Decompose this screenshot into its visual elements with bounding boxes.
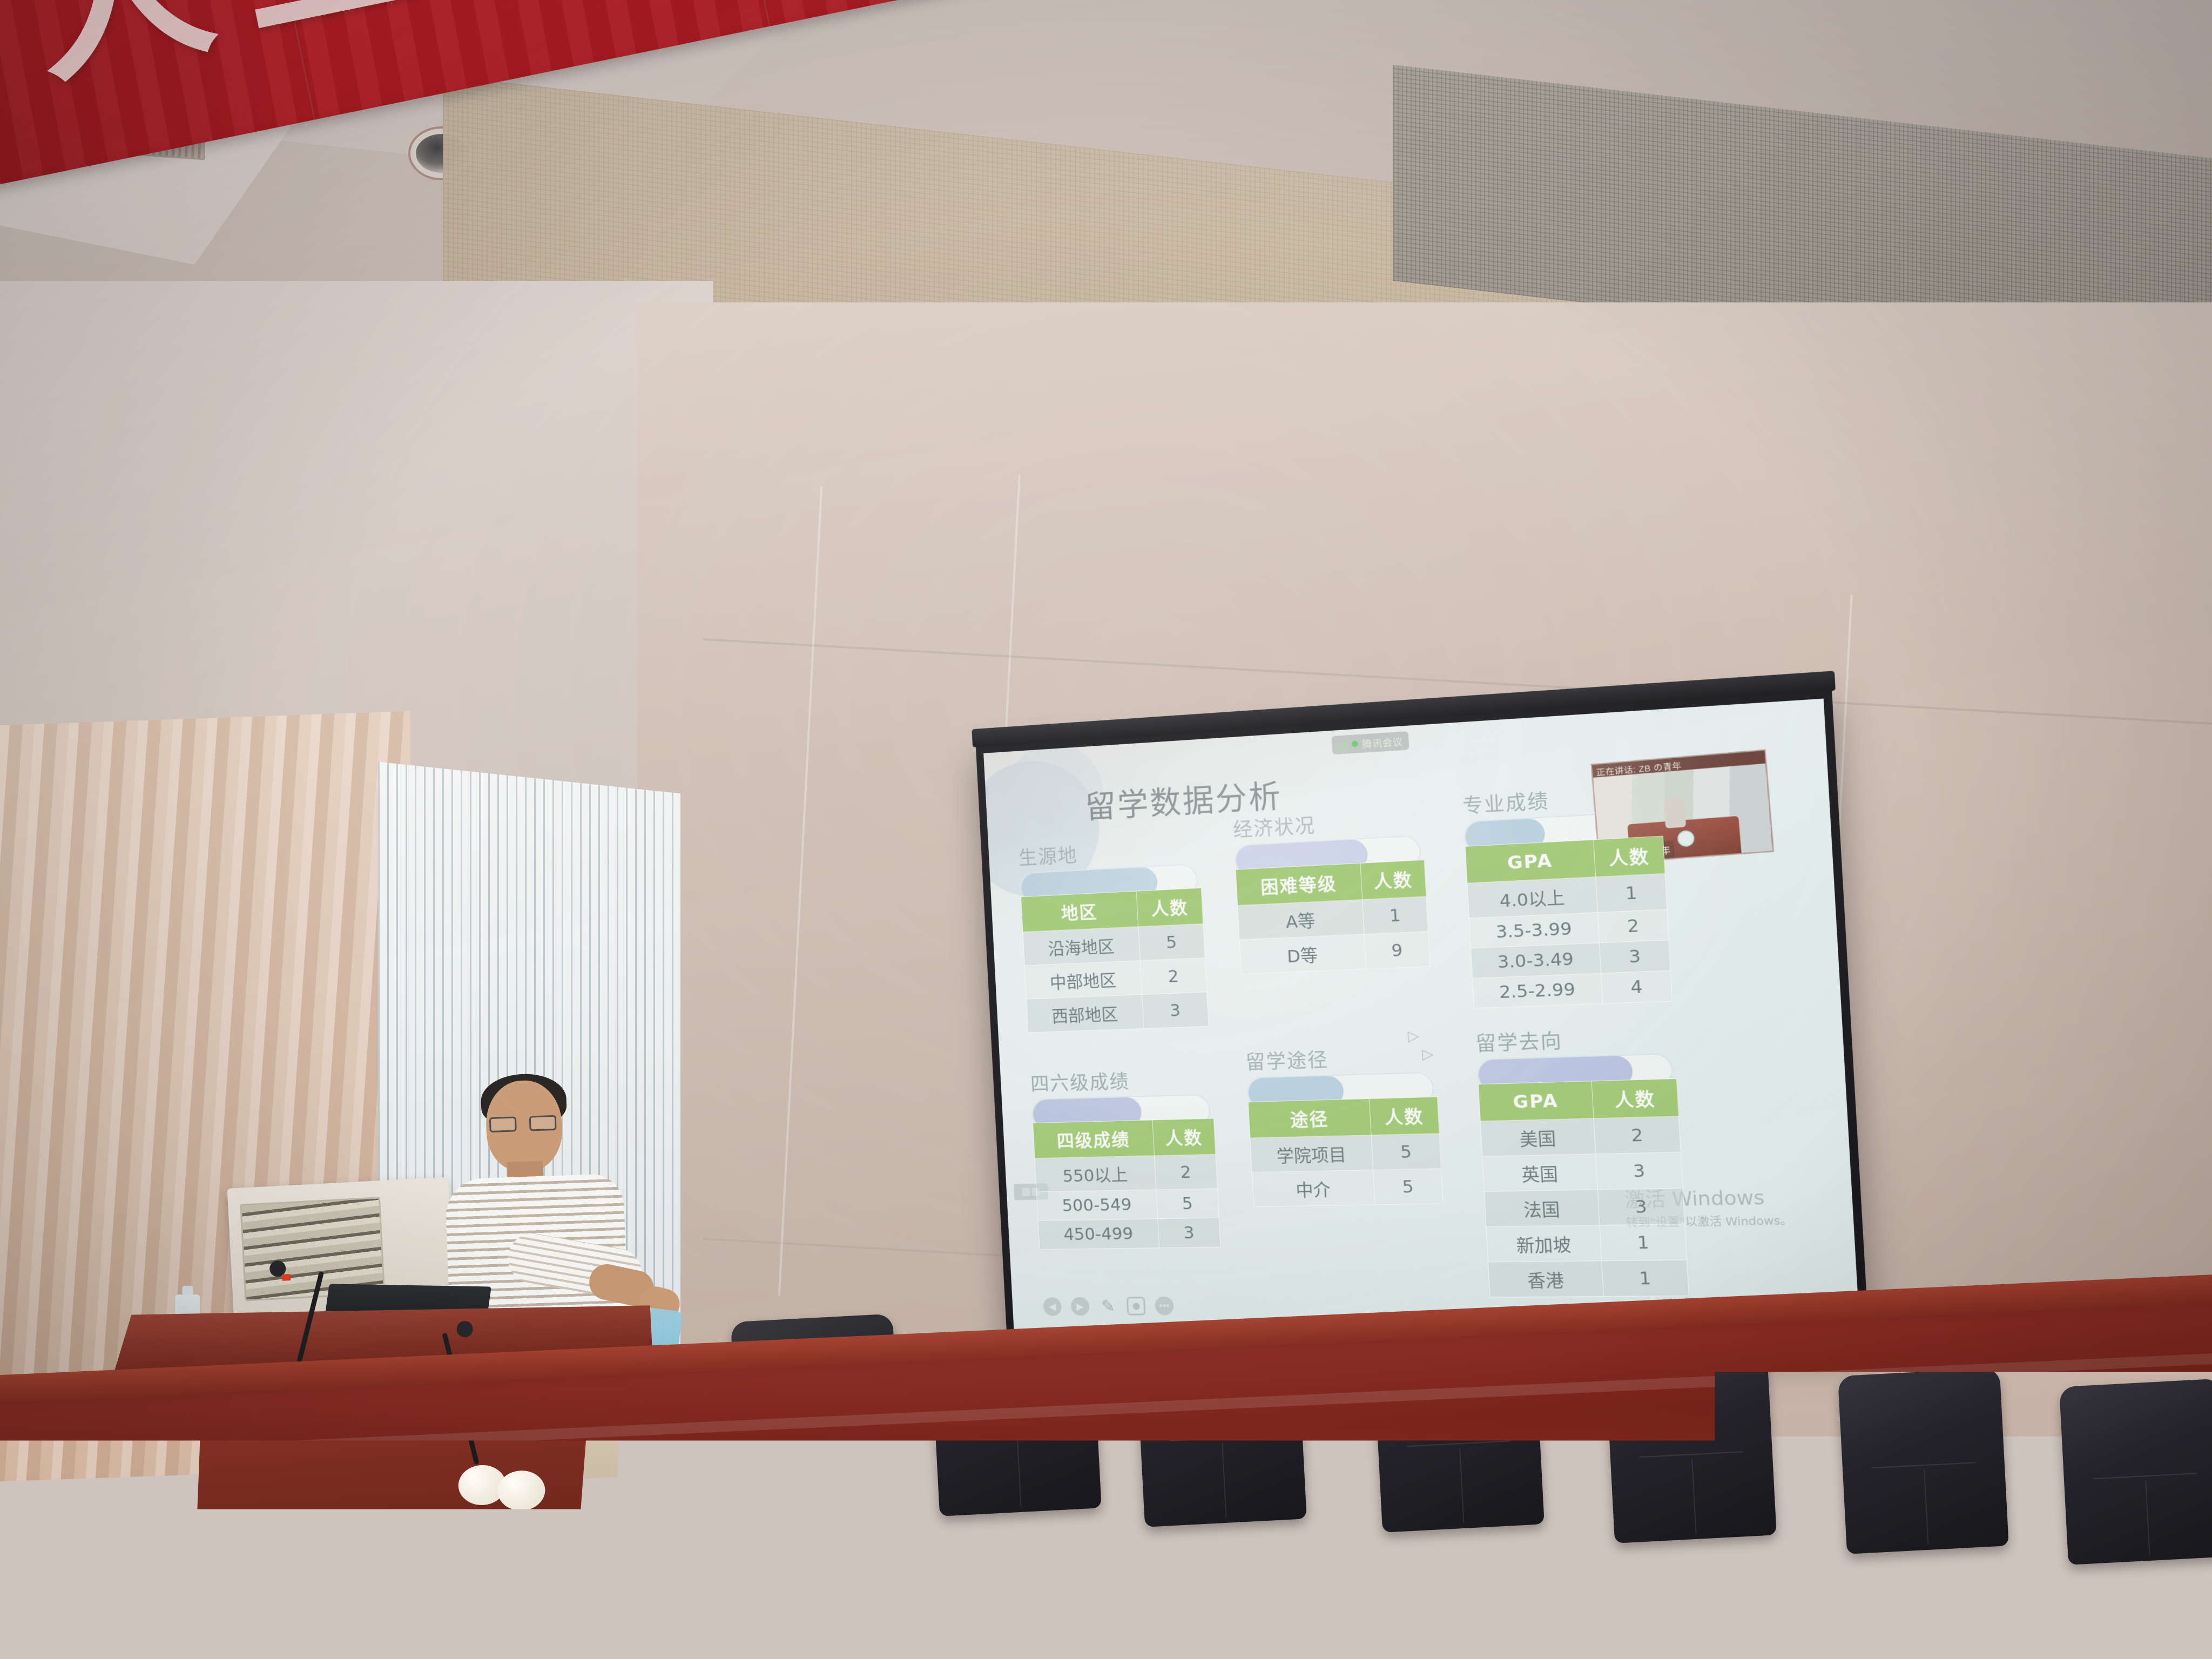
presentation-slide: 腾讯会议 留学数据分析 生源地 地区 人数 沿海地区5 中部地区2 bbox=[983, 699, 1860, 1336]
column-header: 人数 bbox=[1594, 836, 1665, 877]
column-header: GPA bbox=[1465, 840, 1596, 884]
column-header: 途径 bbox=[1248, 1098, 1371, 1138]
emblem-inner-ring: 南京农业大学 1902 NANJING AGRICULTURAL UNIVERS… bbox=[193, 1466, 304, 1576]
microphone-status-light bbox=[282, 1274, 291, 1281]
stat-table: 途径 人数 学院项目5 中介5 bbox=[1248, 1096, 1444, 1207]
table-row: 550以上2 bbox=[1035, 1154, 1217, 1192]
stage-wood-panel bbox=[1102, 1491, 1465, 1653]
mouse-cursor-icon: ▷ bbox=[1421, 1045, 1434, 1063]
next-slide-icon[interactable]: ▶ bbox=[1070, 1297, 1089, 1316]
column-header: 人数 bbox=[1360, 860, 1426, 899]
eyeglasses-icon bbox=[489, 1115, 557, 1134]
stat-block-label: 四六级成绩 bbox=[1030, 1063, 1212, 1097]
stat-table: 四级成绩 人数 550以上2 500-5495 450-4993 bbox=[1033, 1118, 1221, 1250]
signal-bars-icon bbox=[1338, 741, 1348, 749]
emblem-name-en: NANJING AGRICULTURAL UNIVERSITY bbox=[199, 1554, 302, 1572]
emblem-name-cn: 南京农业大学 bbox=[195, 1473, 298, 1495]
column-header: 人数 bbox=[1152, 1118, 1216, 1156]
table-row: 中介5 bbox=[1252, 1169, 1443, 1207]
table-row: 法国3 bbox=[1484, 1188, 1684, 1227]
stage-wood-panel bbox=[302, 1491, 665, 1653]
stat-block-label: 留学去向 bbox=[1475, 1021, 1675, 1057]
column-header: 四级成绩 bbox=[1033, 1120, 1155, 1158]
tencent-meeting-label: 腾讯会议 bbox=[1361, 734, 1403, 751]
pen-icon[interactable]: ✎ bbox=[1098, 1297, 1118, 1316]
more-options-icon[interactable]: ••• bbox=[1155, 1297, 1174, 1316]
stat-block-origin: 生源地 地区 人数 沿海地区5 中部地区2 西部地区3 bbox=[1018, 833, 1209, 1033]
screen-surface: 腾讯会议 留学数据分析 生源地 地区 人数 沿海地区5 中部地区2 bbox=[983, 699, 1860, 1336]
stat-table: 地区 人数 沿海地区5 中部地区2 西部地区3 bbox=[1021, 888, 1209, 1033]
table-row: 英国3 bbox=[1482, 1152, 1683, 1191]
stage-wood-panel bbox=[702, 1491, 1065, 1653]
lecture-hall-photo: 人工智能学院班主任 腾讯会议 bbox=[0, 0, 2212, 1659]
stat-table: GPA 人数 4.0以上1 3.5-3.992 3.0-3.493 2.5-2.… bbox=[1465, 836, 1673, 1009]
table-row: 500-5495 bbox=[1036, 1189, 1219, 1220]
recording-dot-icon bbox=[1352, 740, 1358, 747]
table-row: 西部地区3 bbox=[1026, 992, 1209, 1033]
stat-block-label: 留学途径 bbox=[1245, 1041, 1436, 1075]
tencent-meeting-badge: 腾讯会议 bbox=[1332, 731, 1410, 754]
stat-block-cet: 四六级成绩 四级成绩 人数 550以上2 500-5495 450-4993 bbox=[1030, 1063, 1221, 1250]
stat-table: GPA 人数 美国2 英国3 法国3 新加坡1 香港1 bbox=[1478, 1078, 1689, 1298]
column-header: 人数 bbox=[1369, 1097, 1439, 1135]
previous-slide-icon[interactable]: ◀ bbox=[1043, 1297, 1062, 1316]
column-header: GPA bbox=[1478, 1081, 1594, 1121]
stage-wood-panel bbox=[1901, 1493, 2210, 1653]
stat-block-pathway: 留学途径 途径 人数 学院项目5 中介5 bbox=[1245, 1041, 1444, 1207]
spotlight-icon[interactable] bbox=[1127, 1297, 1146, 1316]
table-row: 新加坡1 bbox=[1486, 1224, 1687, 1262]
stat-table: 困难等级 人数 A等1 D等9 bbox=[1235, 860, 1430, 975]
stat-block-destination: 留学去向 GPA 人数 美国2 英国3 法国3 新加坡1 香港1 bbox=[1475, 1021, 1689, 1298]
table-row: 香港1 bbox=[1488, 1260, 1689, 1297]
column-header: 困难等级 bbox=[1236, 863, 1363, 905]
table-row: 学院项目5 bbox=[1250, 1134, 1441, 1172]
table-row: 450-4993 bbox=[1038, 1218, 1220, 1249]
video-speaker bbox=[1663, 797, 1687, 828]
column-header: 人数 bbox=[1136, 888, 1203, 927]
column-header: 地区 bbox=[1021, 891, 1138, 932]
table-row: 美国2 bbox=[1480, 1116, 1681, 1156]
mouse-cursor-icon: ▷ bbox=[1407, 1027, 1420, 1045]
column-header: 人数 bbox=[1591, 1078, 1678, 1118]
stat-block-economic: 经济状况 困难等级 人数 A等1 D等9 bbox=[1232, 804, 1431, 974]
presentation-toolbar[interactable]: ◀ ▶ ✎ ••• bbox=[1043, 1297, 1174, 1316]
stage-wood-panel bbox=[1501, 1491, 1864, 1653]
projection-screen: 腾讯会议 留学数据分析 生源地 地区 人数 沿海地区5 中部地区2 bbox=[976, 689, 1870, 1346]
